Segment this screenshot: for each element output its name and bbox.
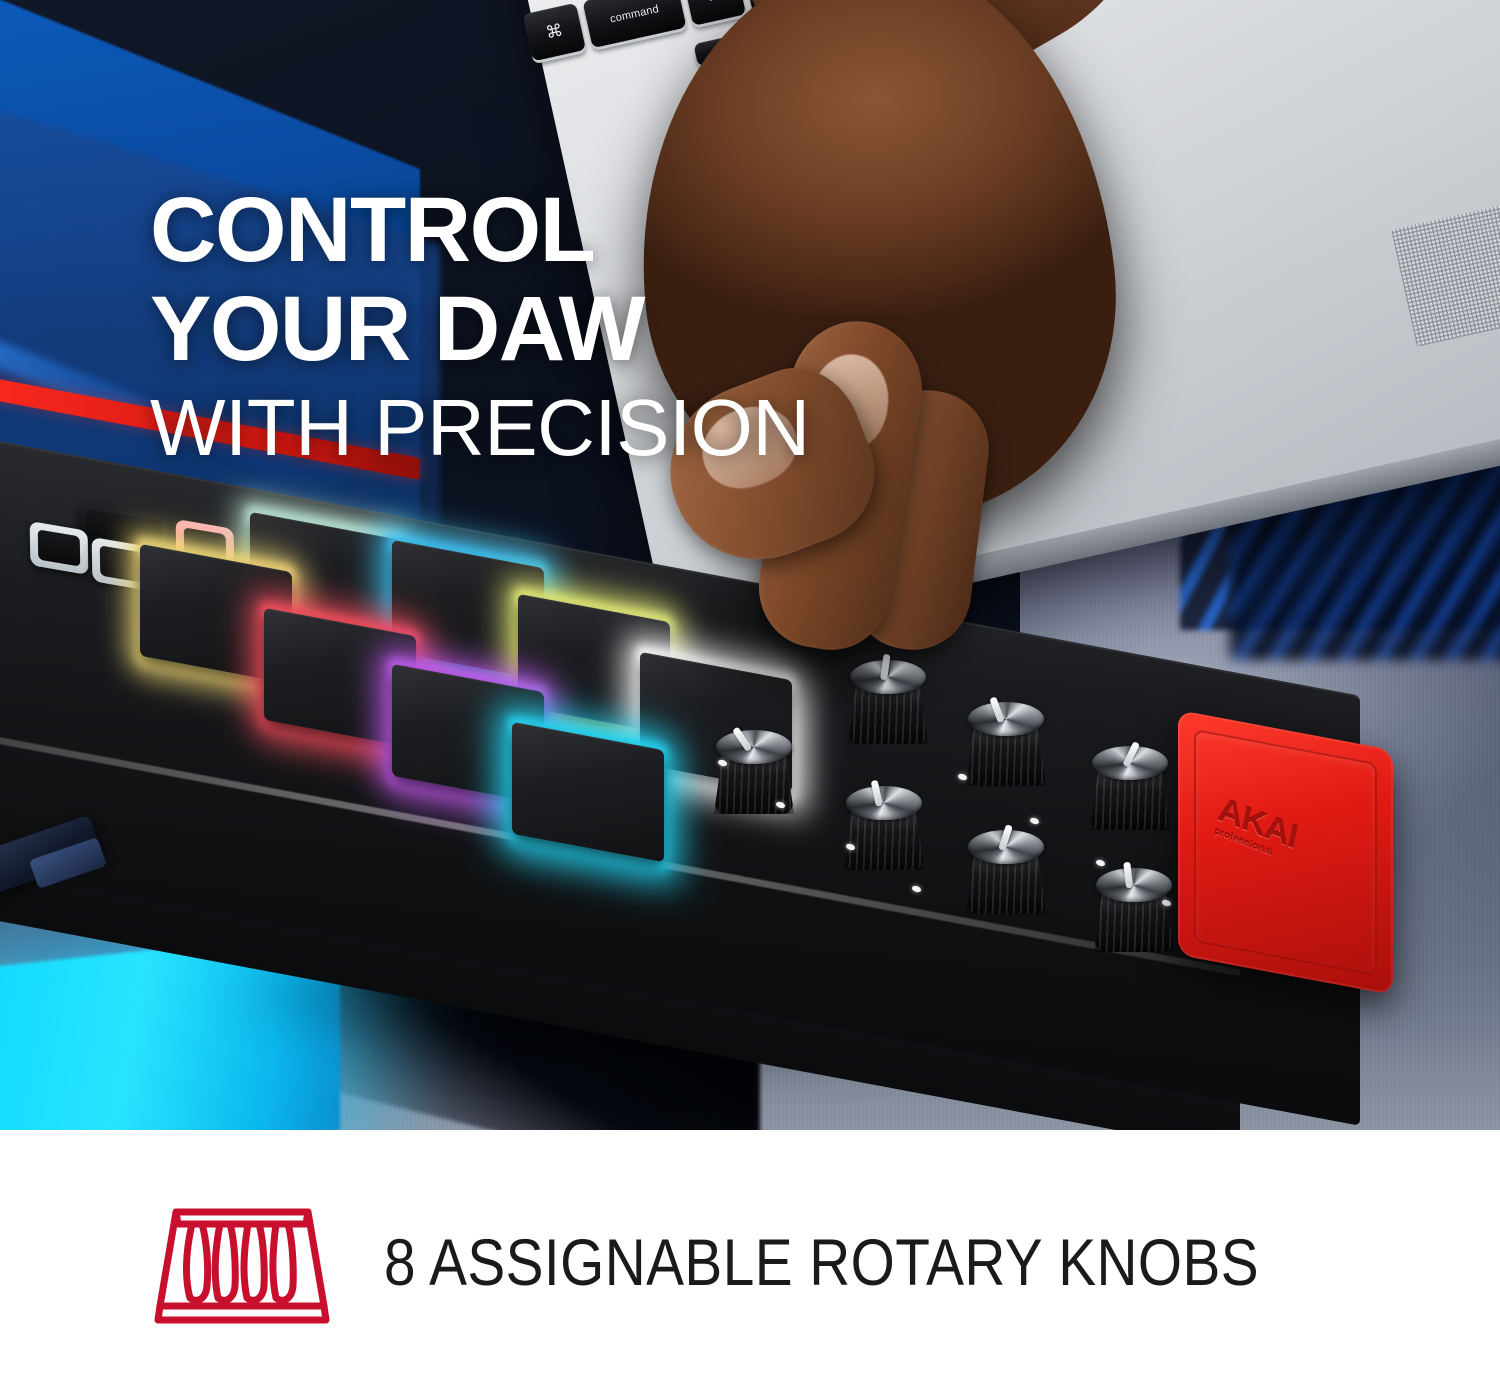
feature-caption-text: 8 ASSIGNABLE ROTARY KNOBS <box>384 1224 1259 1300</box>
headline-line-2: YOUR DAW <box>150 285 1050 374</box>
feature-caption-bar: 8 ASSIGNABLE ROTARY KNOBS <box>0 1130 1500 1393</box>
product-hero-photo: H J K L : " delete N M < > ? | enter ⌘ <box>0 0 1500 1130</box>
rotary-knob-icon <box>152 1194 332 1329</box>
knob-6[interactable] <box>958 822 1054 922</box>
headline-line-3: WITH PRECISION <box>150 388 1050 468</box>
device-red-end-cap: AKAI professional <box>1178 710 1393 995</box>
headline-line-1: CONTROL <box>150 186 1050 275</box>
headline: CONTROL YOUR DAW WITH PRECISION <box>150 186 1050 468</box>
knob-7[interactable] <box>1086 860 1182 960</box>
